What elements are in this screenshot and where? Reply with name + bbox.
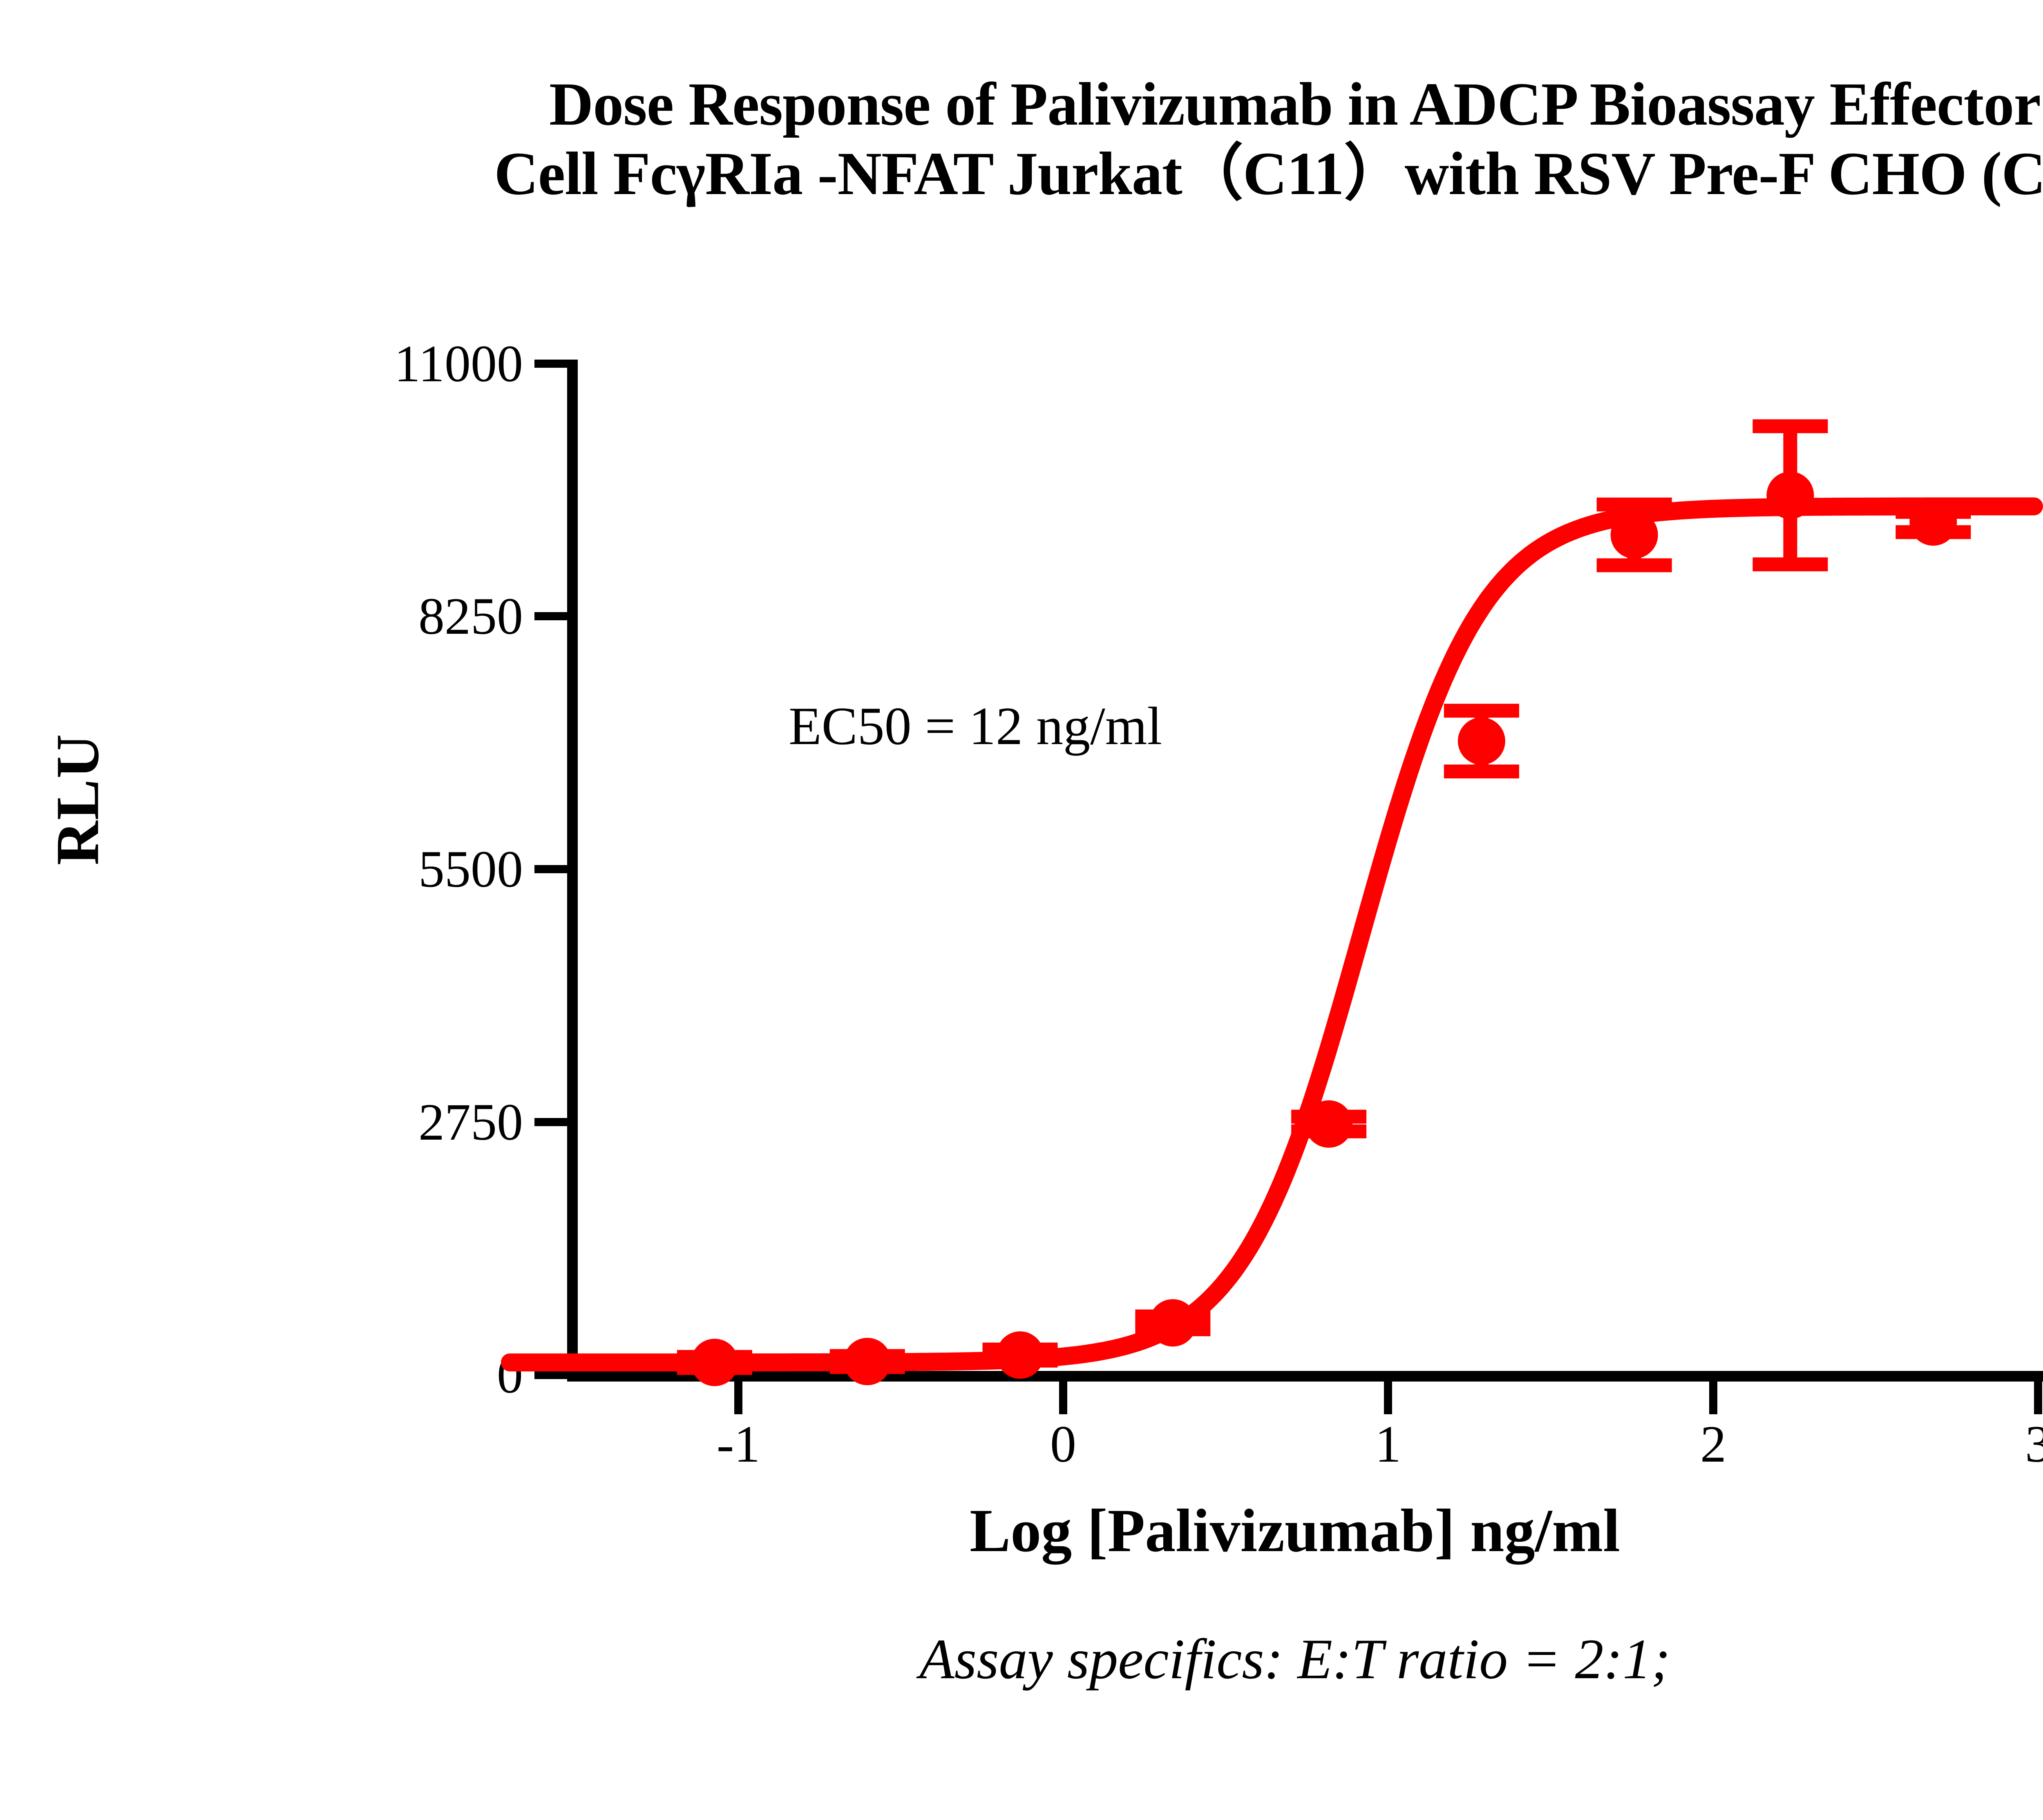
x-tick-label-1: 1 [1327,1418,1449,1470]
x-tick-3 [2034,1382,2042,1414]
chart-title: Dose Response of Palivizumab in ADCP Bio… [0,69,2043,208]
x-tick-1 [1384,1382,1392,1414]
y-tick-0 [534,1371,567,1379]
data-point [1458,718,1505,765]
chart-figure: Dose Response of Palivizumab in ADCP Bio… [0,0,2043,1820]
x-tick-minus1 [734,1382,742,1414]
assay-specifics-caption: Assay specifics: E:T ratio = 2:1; [0,1626,2043,1692]
x-tick-2 [1709,1382,1717,1414]
y-tick-5500 [534,865,567,873]
y-axis-title: RLU [42,685,113,914]
error-bars-group [677,426,1971,1368]
y-tick-11000 [534,360,567,368]
y-tick-label-0: 0 [270,1349,523,1401]
data-point [1149,1299,1196,1346]
chart-title-line-1: Dose Response of Palivizumab in ADCP Bio… [0,69,2043,139]
x-tick-label-0: 0 [1002,1418,1124,1470]
x-tick-label-3: 3 [1977,1418,2043,1470]
x-tick-label-2: 2 [1652,1418,1775,1470]
y-tick-label-2750: 2750 [270,1096,523,1148]
chart-title-line-2: Cell FcγRIa -NFAT Jurkat（C11）with RSV Pr… [0,139,2043,208]
x-tick-label-minus1: -1 [677,1418,800,1470]
x-tick-0 [1059,1382,1067,1414]
data-point [1611,511,1658,559]
x-axis-title: Log [Palivizumab] ng/ml [0,1496,2043,1566]
y-tick-8250 [534,612,567,620]
data-points-group [691,472,1957,1386]
y-axis-spine [567,360,578,1381]
data-point [1909,498,1957,546]
ec50-annotation: EC50 = 12 ng/ml [789,695,1162,757]
y-tick-label-11000: 11000 [270,338,523,390]
y-tick-label-5500: 5500 [270,843,523,895]
y-tick-label-8250: 8250 [270,590,523,642]
data-point [1305,1100,1352,1148]
data-point [1766,472,1814,519]
x-axis-spine [567,1371,2043,1382]
dose-response-curve [510,506,2034,1362]
y-tick-2750 [534,1118,567,1126]
